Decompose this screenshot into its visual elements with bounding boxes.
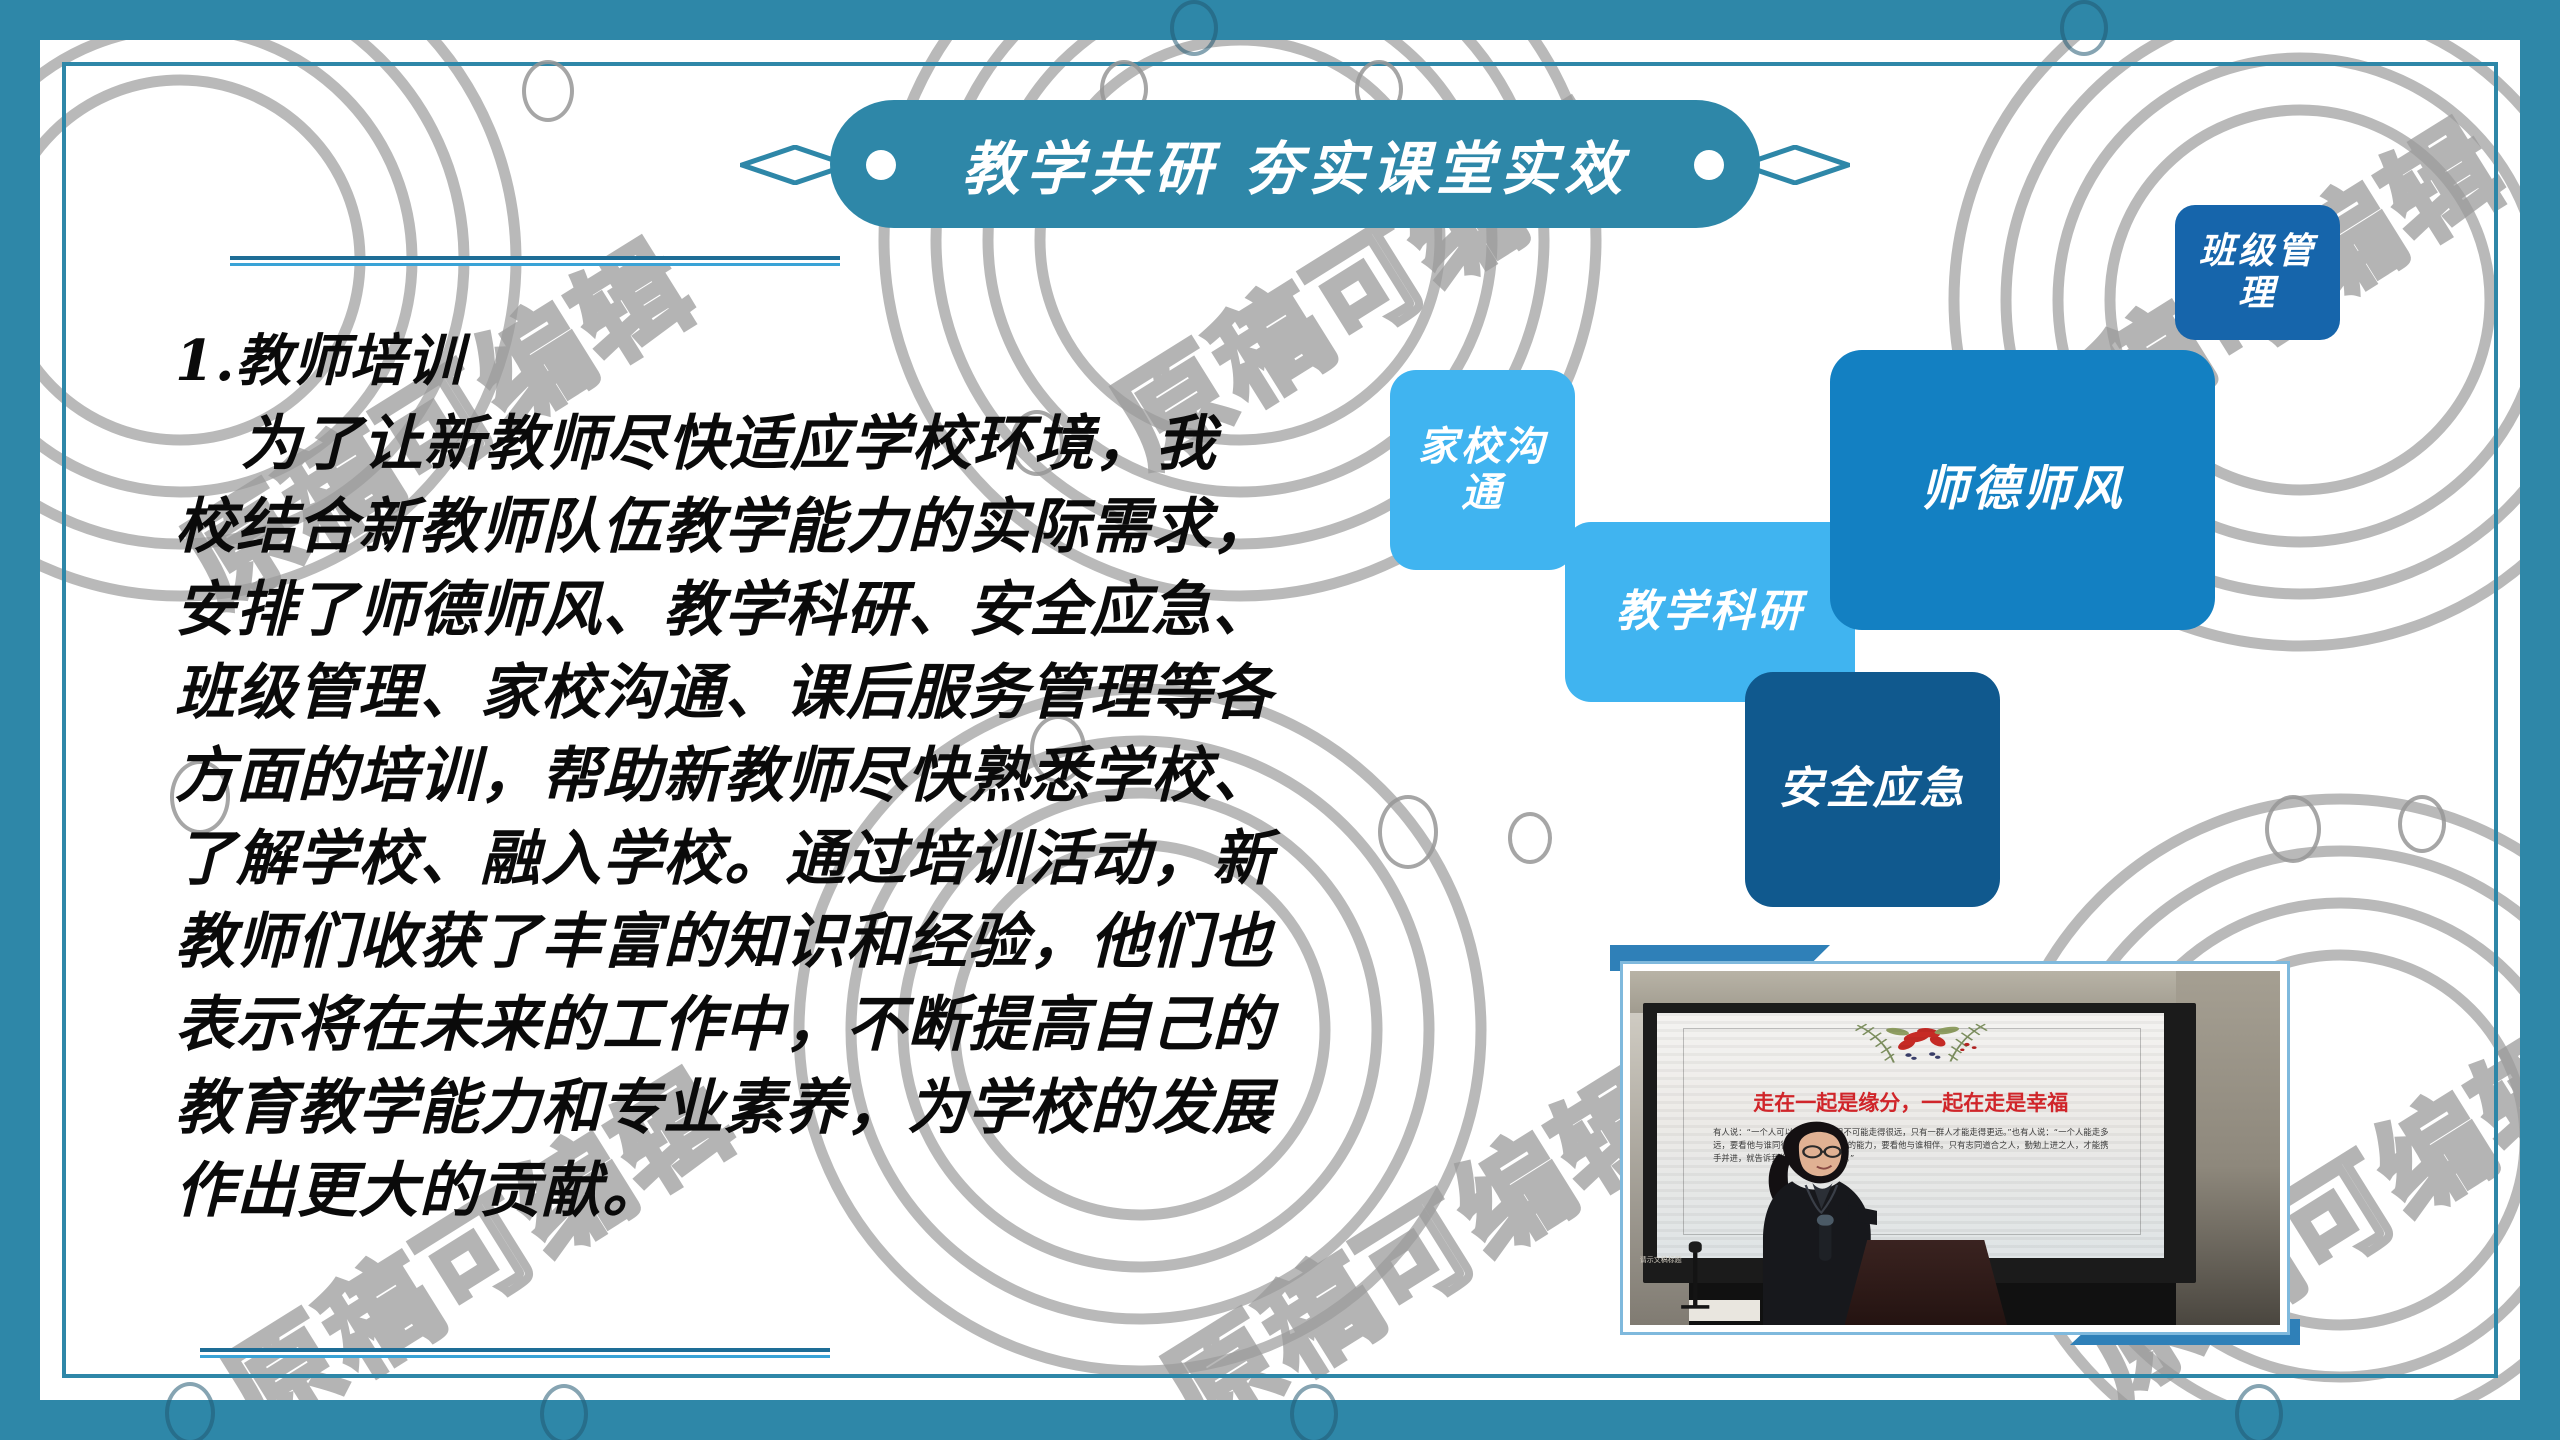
decorative-circle [522,60,574,122]
card-home-school-communication[interactable]: 家校沟通 [1390,370,1575,570]
body-line: 方面的培训，帮助新教师尽快熟悉学校、 [175,735,1405,818]
card-label: 师德师风 [1920,462,2124,517]
body-line: 教师们收获了丰富的知识和经验，他们也 [175,901,1405,984]
frame-circle [2060,0,2108,56]
body-line: 校结合新教师队伍教学能力的实际需求， [175,486,1405,569]
body-text-block: 1.教师培训 为了让新教师尽快适应学校环境，我 校结合新教师队伍教学能力的实际需… [175,320,1405,1233]
frame-circle [165,1382,215,1440]
card-teacher-ethics[interactable]: 师德师风 [1830,350,2215,630]
body-line: 作出更大的贡献。 [175,1150,1405,1233]
bottom-divider-rule [200,1348,830,1358]
decorative-circle [2265,795,2321,863]
frame-circle [1290,1384,1338,1440]
photo-block: 走在一起是缘分，一起在走是幸福 有人说：“一个人可以走得很快，但不可能走得很远，… [1610,945,2300,1345]
body-line: 表示将在未来的工作中，不断提高自己的 [175,984,1405,1067]
section-heading: 1.教师培训 [175,320,1405,403]
photo-slide-flower-graphic [1830,1021,2013,1080]
presentation-slide: 原稿可编辑 原稿可编辑 原稿可编辑 原稿可编辑 原稿可编辑 原稿可编辑 [0,0,2560,1440]
photo-microphone-stand [1679,1240,1712,1318]
card-label: 家校沟通 [1413,424,1552,516]
title-pill: 教学共研 夯实课堂实效 [830,100,1760,228]
card-label: 班级管理 [2195,231,2320,314]
card-class-management[interactable]: 班级管理 [2175,205,2340,340]
photo-projected-slide: 走在一起是缘分，一起在走是幸福 有人说：“一个人可以走得很快，但不可能走得很远，… [1657,1013,2164,1257]
frame-circle [1170,0,1218,56]
card-label: 教学科研 [1616,587,1804,638]
body-line: 班级管理、家校沟通、课后服务管理等各 [175,652,1405,735]
body-line: 安排了师德师风、教学科研、安全应急、 [175,569,1405,652]
photo-podium [1845,1240,2008,1325]
card-safety-emergency[interactable]: 安全应急 [1745,672,2000,907]
decorative-circle [2398,795,2446,853]
title-banner: 教学共研 夯实课堂实效 [740,100,1850,230]
body-line: 为了让新教师尽快适应学校环境，我 [175,403,1405,486]
slide-title: 教学共研 夯实课堂实效 [830,100,1760,228]
body-line: 教育教学能力和专业素养，为学校的发展 [175,1067,1405,1150]
top-divider-rule [230,256,840,266]
frame-circle [540,1384,588,1440]
training-photo: 走在一起是缘分，一起在走是幸福 有人说：“一个人可以走得很快，但不可能走得很远，… [1630,971,2280,1325]
body-line: 了解学校、融入学校。通过培训活动，新 [175,818,1405,901]
photo-corner-label: 请示文稿标题 [1640,1255,1682,1265]
frame-circle [2235,1384,2283,1440]
card-label: 安全应急 [1779,764,1967,815]
decorative-circle [1508,812,1552,864]
photo-frame: 走在一起是缘分，一起在走是幸福 有人说：“一个人可以走得很快，但不可能走得很远，… [1620,961,2290,1335]
